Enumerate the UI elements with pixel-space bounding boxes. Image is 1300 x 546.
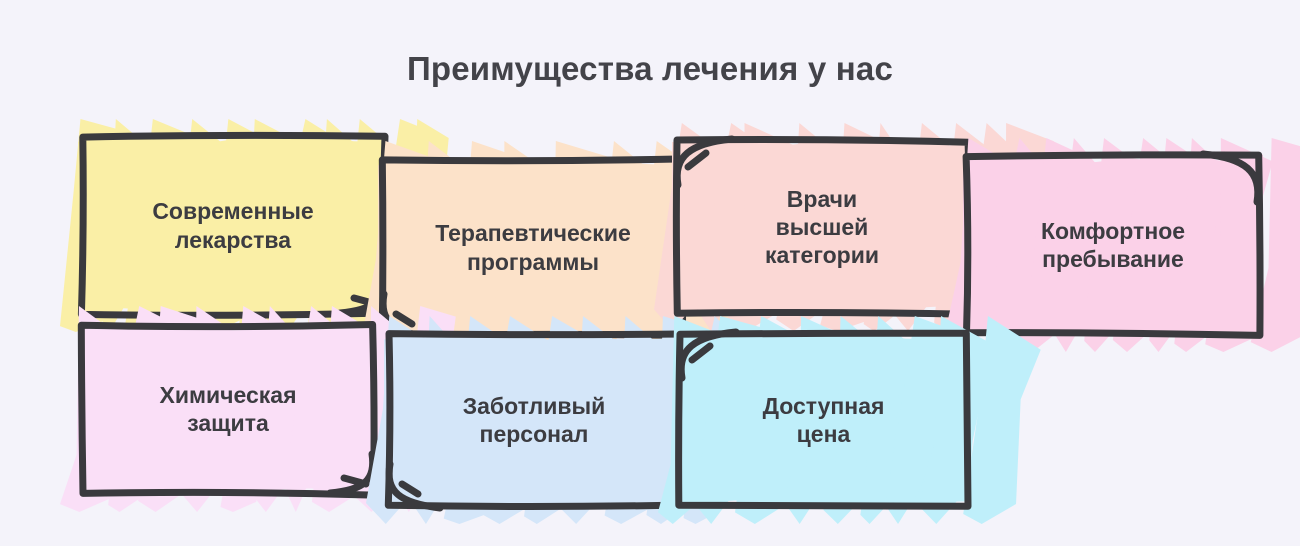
card-shape-6 — [676, 330, 971, 510]
card-shape-4 — [78, 320, 378, 498]
benefit-card-comfortable-stay[interactable]: Комфортное пребывание — [963, 152, 1263, 338]
card-shape-2 — [672, 137, 972, 317]
card-shape-5 — [384, 330, 684, 510]
benefit-card-chemical-protection[interactable]: Химическая защита — [78, 320, 378, 498]
benefit-card-caring-staff[interactable]: Заботливый персонал — [384, 330, 684, 510]
benefit-card-top-category-doctors[interactable]: Врачи высшей категории — [672, 137, 972, 317]
page-title: Преимущества лечения у нас — [0, 50, 1300, 88]
benefit-card-modern-medicines[interactable]: Современные лекарства — [78, 133, 388, 318]
card-shape-0 — [78, 133, 388, 318]
card-shape-3 — [963, 152, 1263, 338]
benefit-card-affordable-price[interactable]: Доступная цена — [676, 330, 971, 510]
